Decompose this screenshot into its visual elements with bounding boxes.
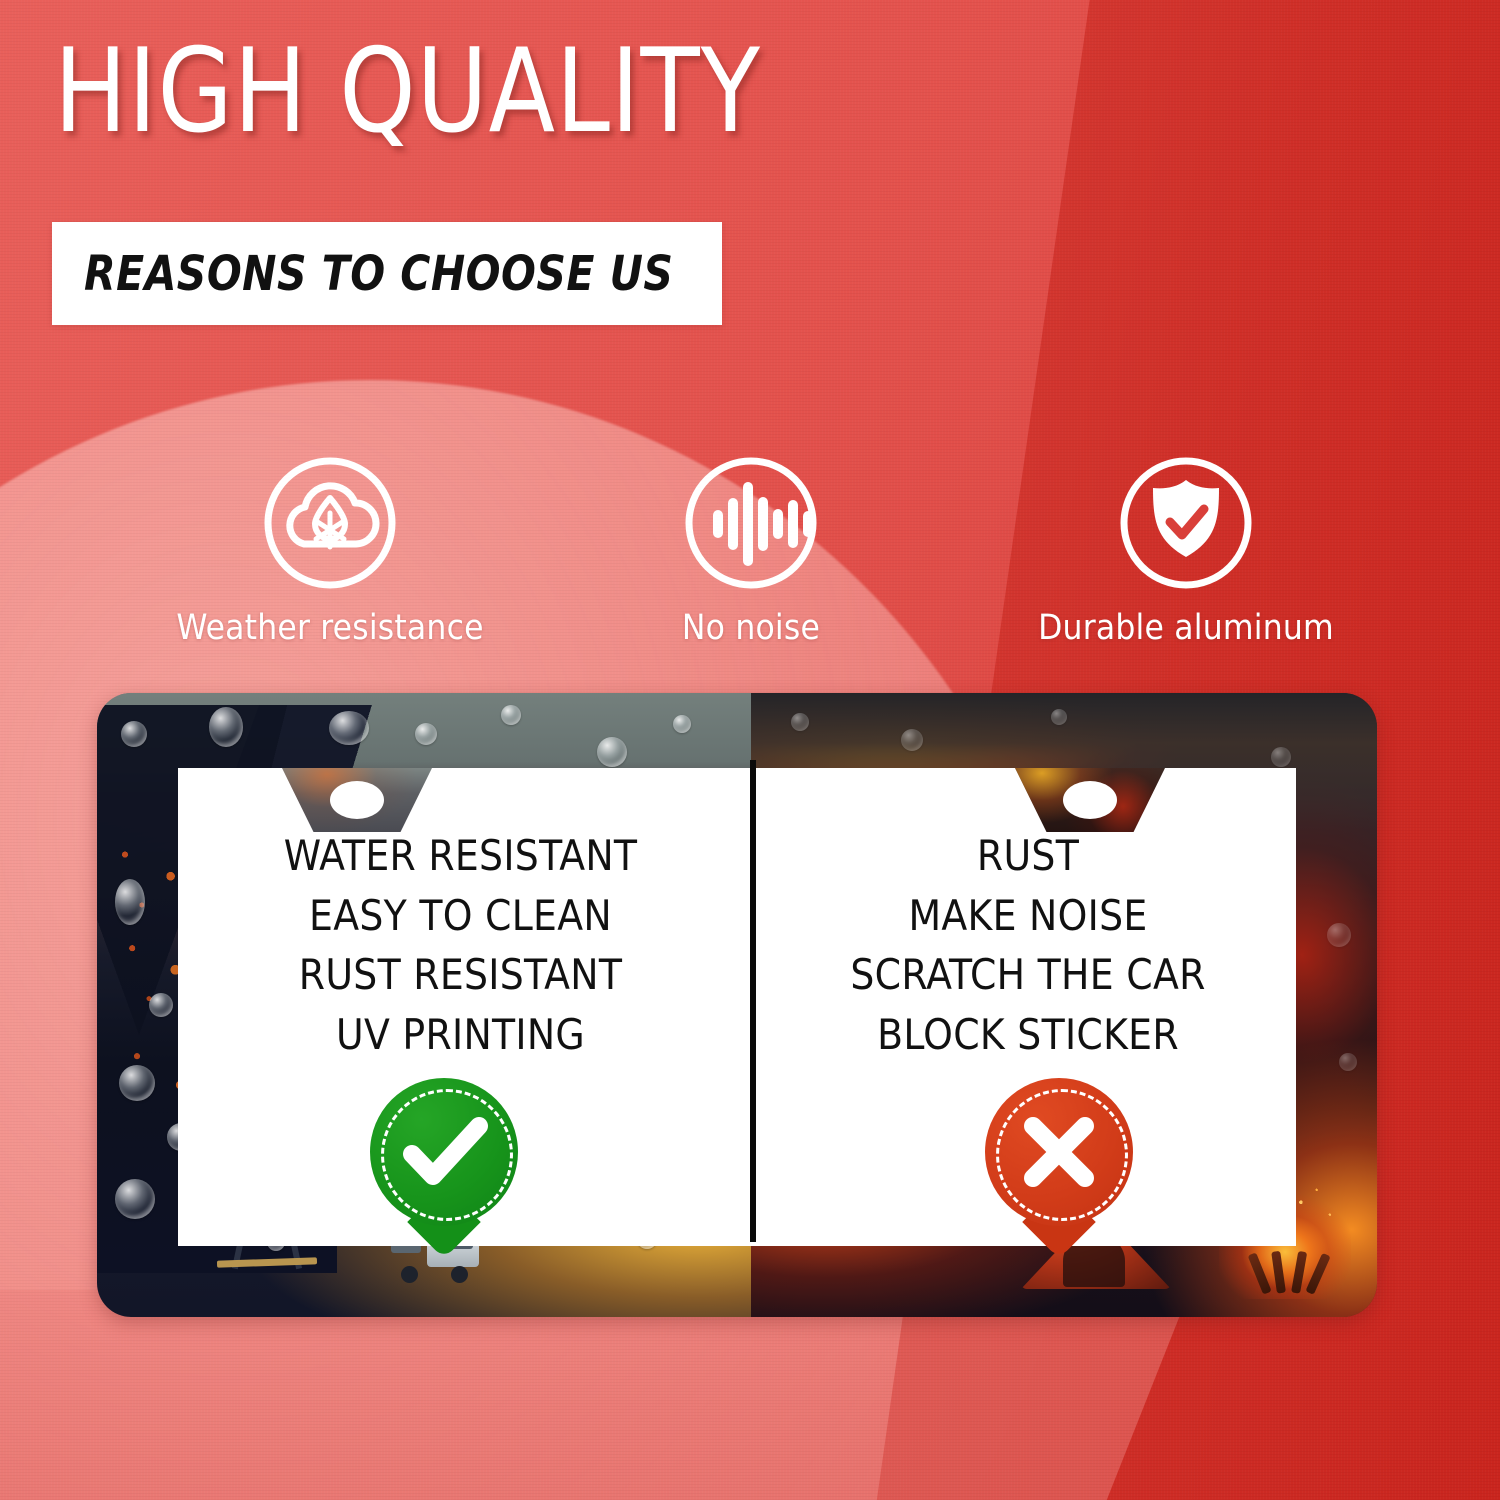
cons-item: RUST bbox=[760, 826, 1296, 886]
pros-badge bbox=[370, 1078, 518, 1258]
feature-durable-aluminum: Durable aluminum bbox=[1008, 452, 1364, 648]
marketing-banner: HIGH QUALITY REASONS TO CHOOSE US Weathe… bbox=[0, 0, 1500, 1500]
feature-row: Weather resistance No noise bbox=[0, 452, 1500, 662]
cons-item: BLOCK STICKER bbox=[760, 1005, 1296, 1065]
feature-label: Durable aluminum bbox=[1008, 608, 1364, 648]
cross-x-icon bbox=[985, 1078, 1133, 1226]
feature-weather-resistance: Weather resistance bbox=[152, 452, 508, 648]
feature-label: Weather resistance bbox=[152, 608, 508, 648]
pros-item: EASY TO CLEAN bbox=[178, 886, 743, 946]
feature-label: No noise bbox=[622, 608, 880, 648]
cons-item: SCRATCH THE CAR bbox=[760, 945, 1296, 1005]
mounting-hole-notch-right bbox=[1015, 768, 1165, 832]
mounting-hole-notch-left bbox=[282, 768, 432, 832]
page-title: HIGH QUALITY bbox=[54, 34, 761, 150]
pros-item: WATER RESISTANT bbox=[178, 826, 743, 886]
checkmark-icon bbox=[370, 1078, 518, 1226]
pros-item: UV PRINTING bbox=[178, 1005, 743, 1065]
background-bottom-band bbox=[0, 1290, 1190, 1500]
subtitle-banner: REASONS TO CHOOSE US bbox=[52, 222, 722, 325]
cons-column: RUST MAKE NOISE SCRATCH THE CAR BLOCK ST… bbox=[760, 826, 1296, 1065]
mounting-hole-icon bbox=[330, 781, 384, 819]
weather-cloud-rain-snow-icon bbox=[259, 452, 401, 594]
mounting-hole-icon bbox=[1063, 781, 1117, 819]
cons-item: MAKE NOISE bbox=[760, 886, 1296, 946]
cons-badge bbox=[985, 1078, 1133, 1258]
pros-column: WATER RESISTANT EASY TO CLEAN RUST RESIS… bbox=[178, 826, 743, 1065]
pros-item: RUST RESISTANT bbox=[178, 945, 743, 1005]
sound-waveform-icon bbox=[680, 452, 822, 594]
subtitle-text: REASONS TO CHOOSE US bbox=[84, 246, 673, 302]
feature-no-noise: No noise bbox=[622, 452, 880, 648]
shield-check-icon bbox=[1115, 452, 1257, 594]
comparison-divider bbox=[750, 760, 756, 1242]
